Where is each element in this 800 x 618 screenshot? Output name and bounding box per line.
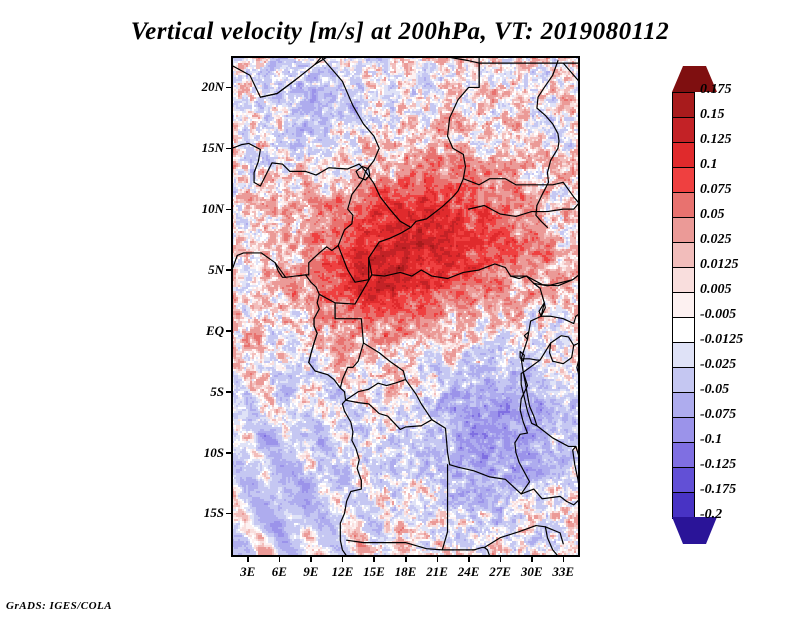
map-boundary-line <box>573 446 579 498</box>
colorbar-tick-label: 0.125 <box>700 133 732 147</box>
colorbar-band <box>672 242 695 269</box>
map-boundary-line <box>550 336 574 364</box>
map-boundary-line <box>260 80 295 97</box>
colorbar-band <box>672 92 695 119</box>
x-axis-tick <box>373 556 375 562</box>
colorbar-band <box>672 292 695 319</box>
map-boundary-line <box>574 343 579 380</box>
colorbar-tick-label: -0.175 <box>700 483 736 497</box>
x-axis-tick <box>563 556 565 562</box>
y-axis-tick <box>226 452 232 454</box>
map-boundary-line <box>442 465 447 550</box>
x-axis-tick <box>531 556 533 562</box>
map-boundary-line <box>523 343 550 372</box>
colorbar-tick-label: -0.05 <box>700 383 729 397</box>
map-boundary-line <box>369 258 511 279</box>
colorbar-tick-label: -0.025 <box>700 358 736 372</box>
map-boundary-line <box>346 400 522 494</box>
map-boundary-line <box>563 63 579 81</box>
colorbar-tick-label: -0.0125 <box>700 333 743 347</box>
map-boundary-line <box>261 253 361 556</box>
map-boundary-line <box>232 143 260 182</box>
colorbar-tick-label: -0.1 <box>700 433 722 447</box>
colorbar-band <box>672 467 695 494</box>
map-boundary-line <box>537 61 559 149</box>
x-axis-tick <box>437 556 439 562</box>
map-boundary-line <box>306 171 366 274</box>
x-axis-label: 33E <box>541 564 585 580</box>
colorbar-band <box>672 167 695 194</box>
map-boundary-line <box>521 372 537 426</box>
y-axis-label: 5S <box>170 384 224 400</box>
y-axis-label: 15N <box>170 140 224 156</box>
colorbar-band <box>672 417 695 444</box>
map-boundary-line <box>484 547 489 556</box>
y-axis-tick <box>226 148 232 150</box>
y-axis-tick <box>226 513 232 515</box>
y-axis-tick <box>226 87 232 89</box>
map-boundaries-overlay <box>232 57 579 556</box>
map-boundary-line <box>366 63 480 227</box>
colorbar-band <box>672 267 695 294</box>
map-boundary-line <box>335 303 363 388</box>
colorbar-tick-label: -0.075 <box>700 408 736 422</box>
map-boundary-line <box>521 489 566 501</box>
x-axis-tick <box>279 556 281 562</box>
y-axis-label: 20N <box>170 79 224 95</box>
grads-credit: GrADS: IGES/COLA <box>6 600 112 612</box>
map-boundary-line <box>347 540 474 550</box>
y-axis-label: 5N <box>170 262 224 278</box>
colorbar-tick-label: 0.15 <box>700 108 725 122</box>
colorbar <box>672 66 695 545</box>
colorbar-tick-label: 0.075 <box>700 183 732 197</box>
map-boundary-line <box>406 380 432 420</box>
colorbar-tick-label: -0.125 <box>700 458 736 472</box>
y-axis-label: 15S <box>170 505 224 521</box>
colorbar-tick-label: 0.05 <box>700 208 725 222</box>
y-axis-label: 10N <box>170 201 224 217</box>
map-boundary-line <box>541 313 579 324</box>
x-axis-tick <box>310 556 312 562</box>
map-boundary-line <box>463 179 579 203</box>
y-axis-tick <box>226 391 232 393</box>
x-axis-tick <box>342 556 344 562</box>
y-axis-label: 10S <box>170 445 224 461</box>
colorbar-tick-label: 0.0125 <box>700 258 739 272</box>
map-boundary-line <box>369 227 411 257</box>
map-boundary-line <box>254 163 365 186</box>
x-axis-tick <box>247 556 249 562</box>
map-boundary-line <box>537 148 558 205</box>
map-boundary-line <box>346 343 406 400</box>
colorbar-band <box>672 317 695 344</box>
map-boundary-line <box>232 57 321 97</box>
colorbar-band <box>672 367 695 394</box>
map-plot-area <box>232 57 579 556</box>
colorbar-band <box>672 192 695 219</box>
map-boundary-line <box>338 246 369 283</box>
map-boundary-line <box>484 526 563 548</box>
map-boundary-line <box>469 203 579 216</box>
colorbar-band <box>672 442 695 469</box>
map-boundary-line <box>566 499 579 508</box>
colorbar-band <box>672 392 695 419</box>
colorbar-tick-label: 0.025 <box>700 233 732 247</box>
x-axis-tick <box>405 556 407 562</box>
x-axis-tick <box>468 556 470 562</box>
map-boundary-line <box>515 283 544 494</box>
map-boundary-line <box>319 275 372 304</box>
colorbar-tick-label: 0.005 <box>700 283 732 297</box>
colorbar-tick-label: 0.1 <box>700 158 718 172</box>
map-boundary-line <box>321 57 379 171</box>
colorbar-band <box>672 217 695 244</box>
colorbar-band <box>672 492 695 519</box>
map-boundary-line <box>537 426 576 447</box>
colorbar-band <box>672 142 695 169</box>
map-boundary-line <box>474 547 485 549</box>
chart-title: Vertical velocity [m/s] at 200hPa, VT: 2… <box>0 18 800 46</box>
map-boundary-line <box>374 57 479 63</box>
colorbar-tick-label: 0.175 <box>700 83 732 97</box>
y-axis-tick <box>226 269 232 271</box>
map-boundary-line <box>511 276 534 283</box>
y-axis-tick <box>226 330 232 332</box>
colorbar-tick-label: -0.005 <box>700 308 736 322</box>
y-axis-label: EQ <box>170 323 224 339</box>
map-boundary-line <box>536 205 548 227</box>
y-axis-tick <box>226 209 232 211</box>
colorbar-band <box>672 117 695 144</box>
map-boundary-line <box>309 319 317 363</box>
map-boundary-line <box>232 253 261 270</box>
x-axis-tick <box>500 556 502 562</box>
colorbar-band <box>672 342 695 369</box>
colorbar-tick-label: -0.2 <box>700 508 722 522</box>
